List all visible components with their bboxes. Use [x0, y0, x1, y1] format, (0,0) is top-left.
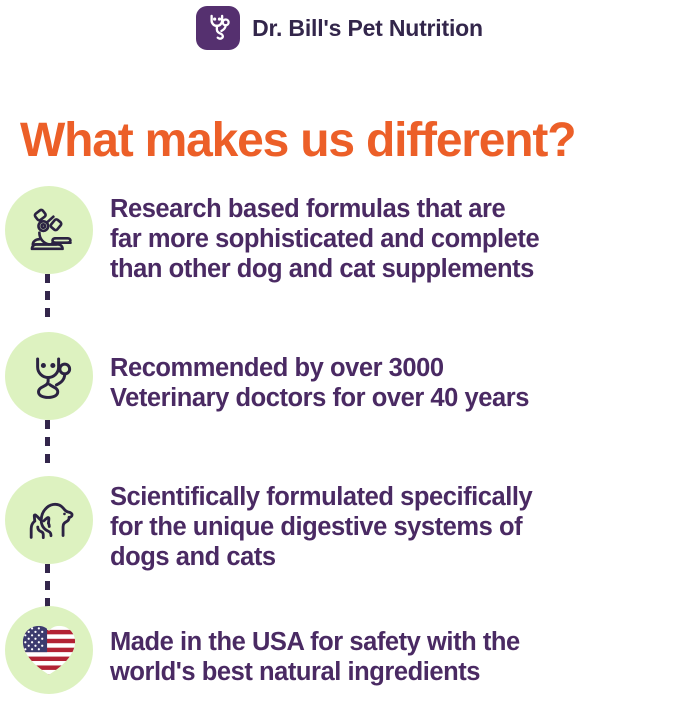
brand-header: Dr. Bill's Pet Nutrition — [0, 6, 679, 50]
feature-list: Research based formulas that are far mor… — [0, 186, 679, 702]
feature-line: Veterinary doctors for over 40 years — [110, 383, 671, 413]
list-item: Scientifically formulated specifically f… — [0, 476, 679, 572]
feature-line: world's best natural ingredients — [110, 657, 671, 687]
feature-line: Research based formulas that are — [110, 194, 671, 224]
list-item: Made in the USA for safety with the worl… — [0, 606, 679, 702]
feature-line: Made in the USA for safety with the — [110, 627, 671, 657]
dog-and-cat-icon — [5, 476, 93, 564]
list-item: Recommended by over 3000 Veterinary doct… — [0, 332, 679, 428]
feature-line: Scientifically formulated specifically — [110, 482, 671, 512]
connector-dashes — [45, 274, 50, 322]
connector-dashes — [45, 420, 50, 468]
feature-icon-slot — [0, 476, 110, 564]
brand-logo-mark — [196, 6, 240, 50]
page-title: What makes us different? — [20, 113, 665, 169]
feature-text: Recommended by over 3000 Veterinary doct… — [110, 332, 679, 413]
brand-name: Dr. Bill's Pet Nutrition — [252, 15, 483, 42]
microscope-icon — [5, 186, 93, 274]
connector-dashes — [45, 564, 50, 612]
flag-stripes — [18, 621, 80, 679]
stethoscope-face-icon — [5, 332, 93, 420]
stethoscope-face-icon — [203, 11, 233, 46]
infographic-page: Dr. Bill's Pet Nutrition What makes us d… — [0, 0, 679, 689]
feature-line: than other dog and cat supplements — [110, 254, 671, 284]
feature-line: dogs and cats — [110, 542, 671, 572]
list-item: Research based formulas that are far mor… — [0, 186, 679, 284]
feature-line: far more sophisticated and complete — [110, 224, 671, 254]
feature-text: Research based formulas that are far mor… — [110, 186, 679, 284]
feature-text: Scientifically formulated specifically f… — [110, 476, 679, 572]
feature-icon-slot — [0, 332, 110, 420]
feature-line: Recommended by over 3000 — [110, 353, 671, 383]
feature-icon-slot — [0, 186, 110, 274]
feature-text: Made in the USA for safety with the worl… — [110, 606, 679, 687]
feature-line: for the unique digestive systems of — [110, 512, 671, 542]
usa-flag-heart-icon — [5, 606, 93, 694]
feature-icon-slot — [0, 606, 110, 694]
